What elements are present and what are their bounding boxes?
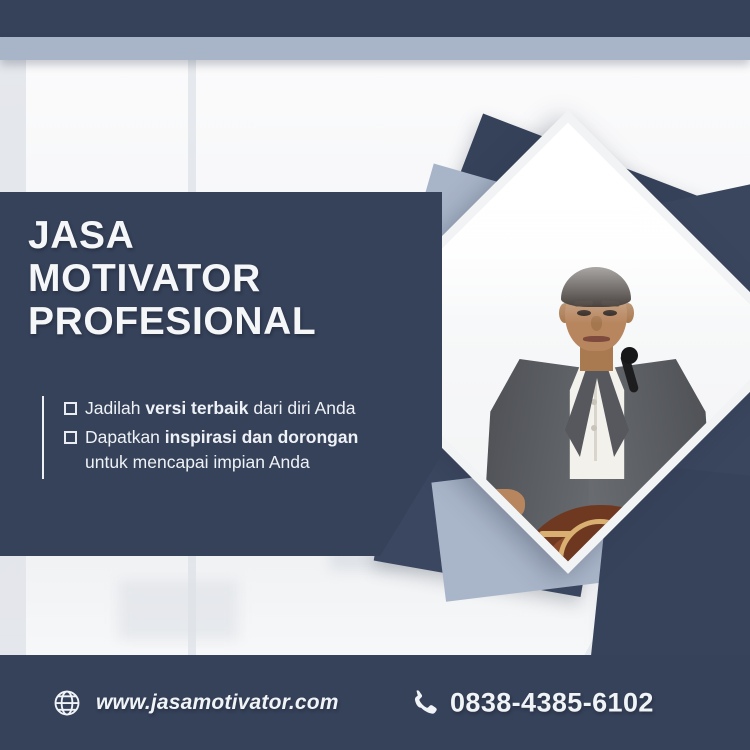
headline-line-2: MOTIVATOR bbox=[28, 257, 418, 300]
bullet-2-pre: Dapatkan bbox=[85, 427, 165, 447]
bullet-1-pre: Jadilah bbox=[85, 398, 145, 418]
poster-canvas: JASA MOTIVATOR PROFESIONAL Jadilah versi… bbox=[0, 0, 750, 750]
bullet-2-post: untuk mencapai impian Anda bbox=[85, 452, 310, 472]
checkbox-icon bbox=[64, 431, 77, 444]
eye-left bbox=[577, 310, 591, 316]
mouth bbox=[583, 336, 610, 342]
website-url: www.jasamotivator.com bbox=[96, 691, 339, 715]
nose bbox=[591, 316, 602, 331]
top-blue-band bbox=[0, 37, 750, 60]
headline-line-1: JASA bbox=[28, 214, 418, 257]
phone-contact[interactable]: 0838-4385-6102 bbox=[408, 687, 654, 718]
eye-right bbox=[603, 310, 617, 316]
list-item: Jadilah versi terbaik dari diri Anda bbox=[64, 396, 402, 421]
top-navy-band bbox=[0, 0, 750, 37]
shirt-button bbox=[591, 425, 597, 431]
website-contact[interactable]: www.jasamotivator.com bbox=[52, 688, 339, 718]
background-shape bbox=[118, 580, 238, 640]
phone-number: 0838-4385-6102 bbox=[450, 687, 654, 718]
content-panel-content: JASA MOTIVATOR PROFESIONAL Jadilah versi… bbox=[0, 192, 442, 556]
footer-bar: www.jasamotivator.com 0838-4385-6102 bbox=[0, 655, 750, 750]
phone-icon bbox=[408, 688, 438, 718]
benefit-list: Jadilah versi terbaik dari diri Anda Dap… bbox=[42, 396, 402, 479]
checkbox-icon bbox=[64, 402, 77, 415]
globe-icon bbox=[52, 688, 82, 718]
page-title: JASA MOTIVATOR PROFESIONAL bbox=[28, 214, 418, 343]
bullet-1-post: dari diri Anda bbox=[248, 398, 355, 418]
microphone-icon bbox=[621, 347, 638, 364]
footer-row: www.jasamotivator.com 0838-4385-6102 bbox=[0, 655, 750, 750]
bullet-2-bold: inspirasi dan dorongan bbox=[165, 427, 359, 447]
headline-line-3: PROFESIONAL bbox=[28, 300, 418, 343]
hair bbox=[561, 267, 631, 307]
list-item-text: Dapatkan inspirasi dan dorongan untuk me… bbox=[85, 425, 402, 475]
list-item: Dapatkan inspirasi dan dorongan untuk me… bbox=[64, 425, 402, 475]
bullet-1-bold: versi terbaik bbox=[145, 398, 248, 418]
list-item-text: Jadilah versi terbaik dari diri Anda bbox=[85, 396, 355, 421]
